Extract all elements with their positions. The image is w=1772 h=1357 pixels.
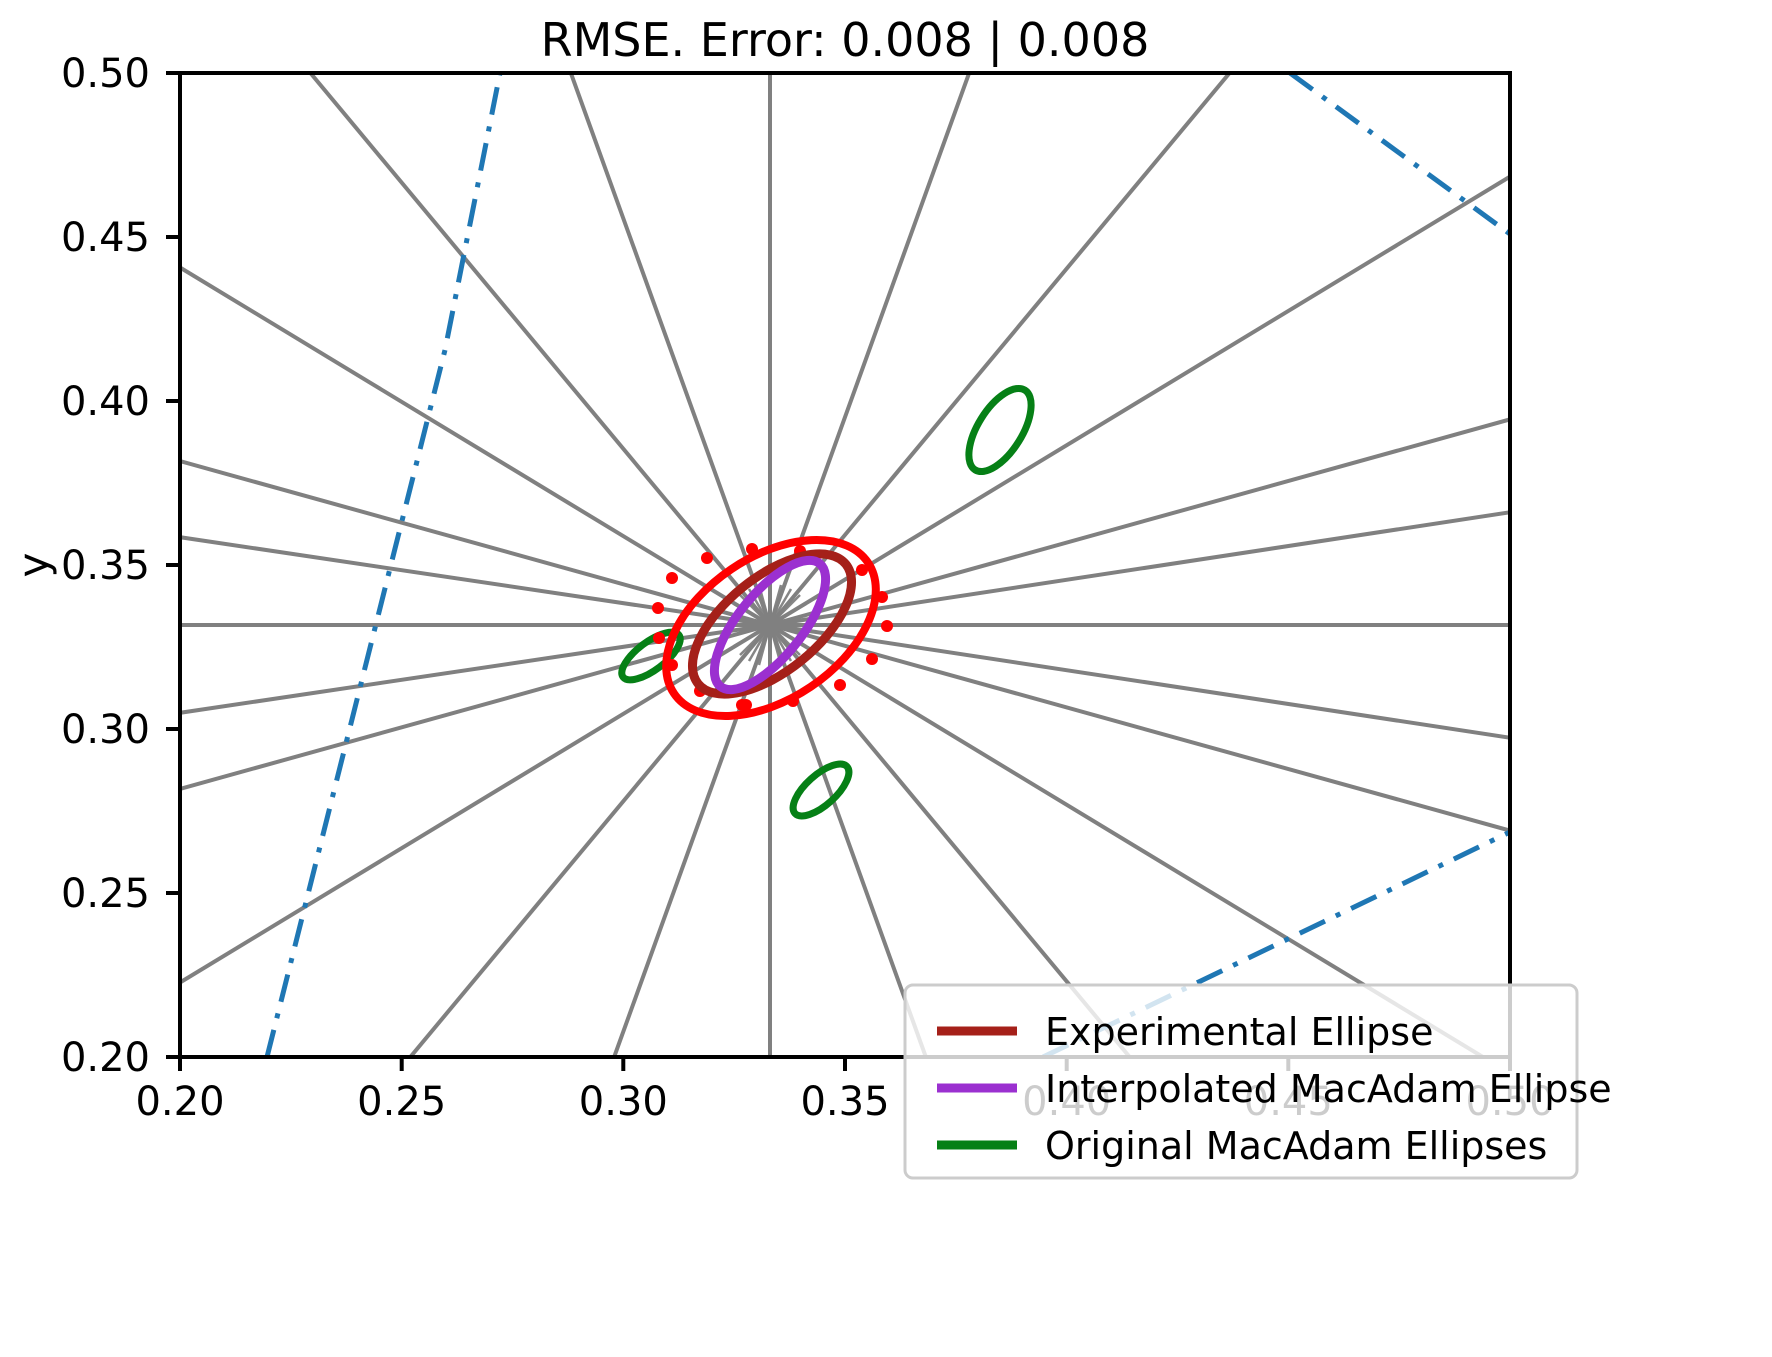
legend: Experimental Ellipse Interpolated MacAda… <box>905 985 1612 1178</box>
y-tick-marks <box>166 73 180 1057</box>
x-tick-label: 0.30 <box>579 1079 668 1125</box>
y-tick-labels: 0.20 0.25 0.30 0.35 0.40 0.45 0.50 <box>61 51 150 1081</box>
center-hue-fan <box>728 583 812 667</box>
chart-title: RMSE. Error: 0.008 | 0.008 <box>541 13 1150 68</box>
y-axis-label: y <box>9 553 58 578</box>
y-tick-label: 0.25 <box>61 871 150 917</box>
y-tick-label: 0.30 <box>61 707 150 753</box>
legend-label-experimental: Experimental Ellipse <box>1045 1010 1433 1054</box>
chart-canvas: 0.20 0.25 0.30 0.35 0.40 0.45 0.50 0.20 … <box>0 0 1772 1357</box>
x-tick-label: 0.35 <box>800 1079 889 1125</box>
y-tick-label: 0.45 <box>61 215 150 261</box>
y-tick-label: 0.50 <box>61 51 150 97</box>
y-tick-label: 0.40 <box>61 379 150 425</box>
legend-label-original: Original MacAdam Ellipses <box>1045 1124 1547 1168</box>
x-tick-label: 0.20 <box>135 1079 224 1125</box>
y-tick-label: 0.35 <box>61 543 150 589</box>
y-tick-label: 0.20 <box>61 1035 150 1081</box>
x-tick-label: 0.25 <box>357 1079 446 1125</box>
chart-figure: 0.20 0.25 0.30 0.35 0.40 0.45 0.50 0.20 … <box>0 0 1772 1357</box>
legend-label-interpolated: Interpolated MacAdam Ellipse <box>1045 1067 1612 1111</box>
